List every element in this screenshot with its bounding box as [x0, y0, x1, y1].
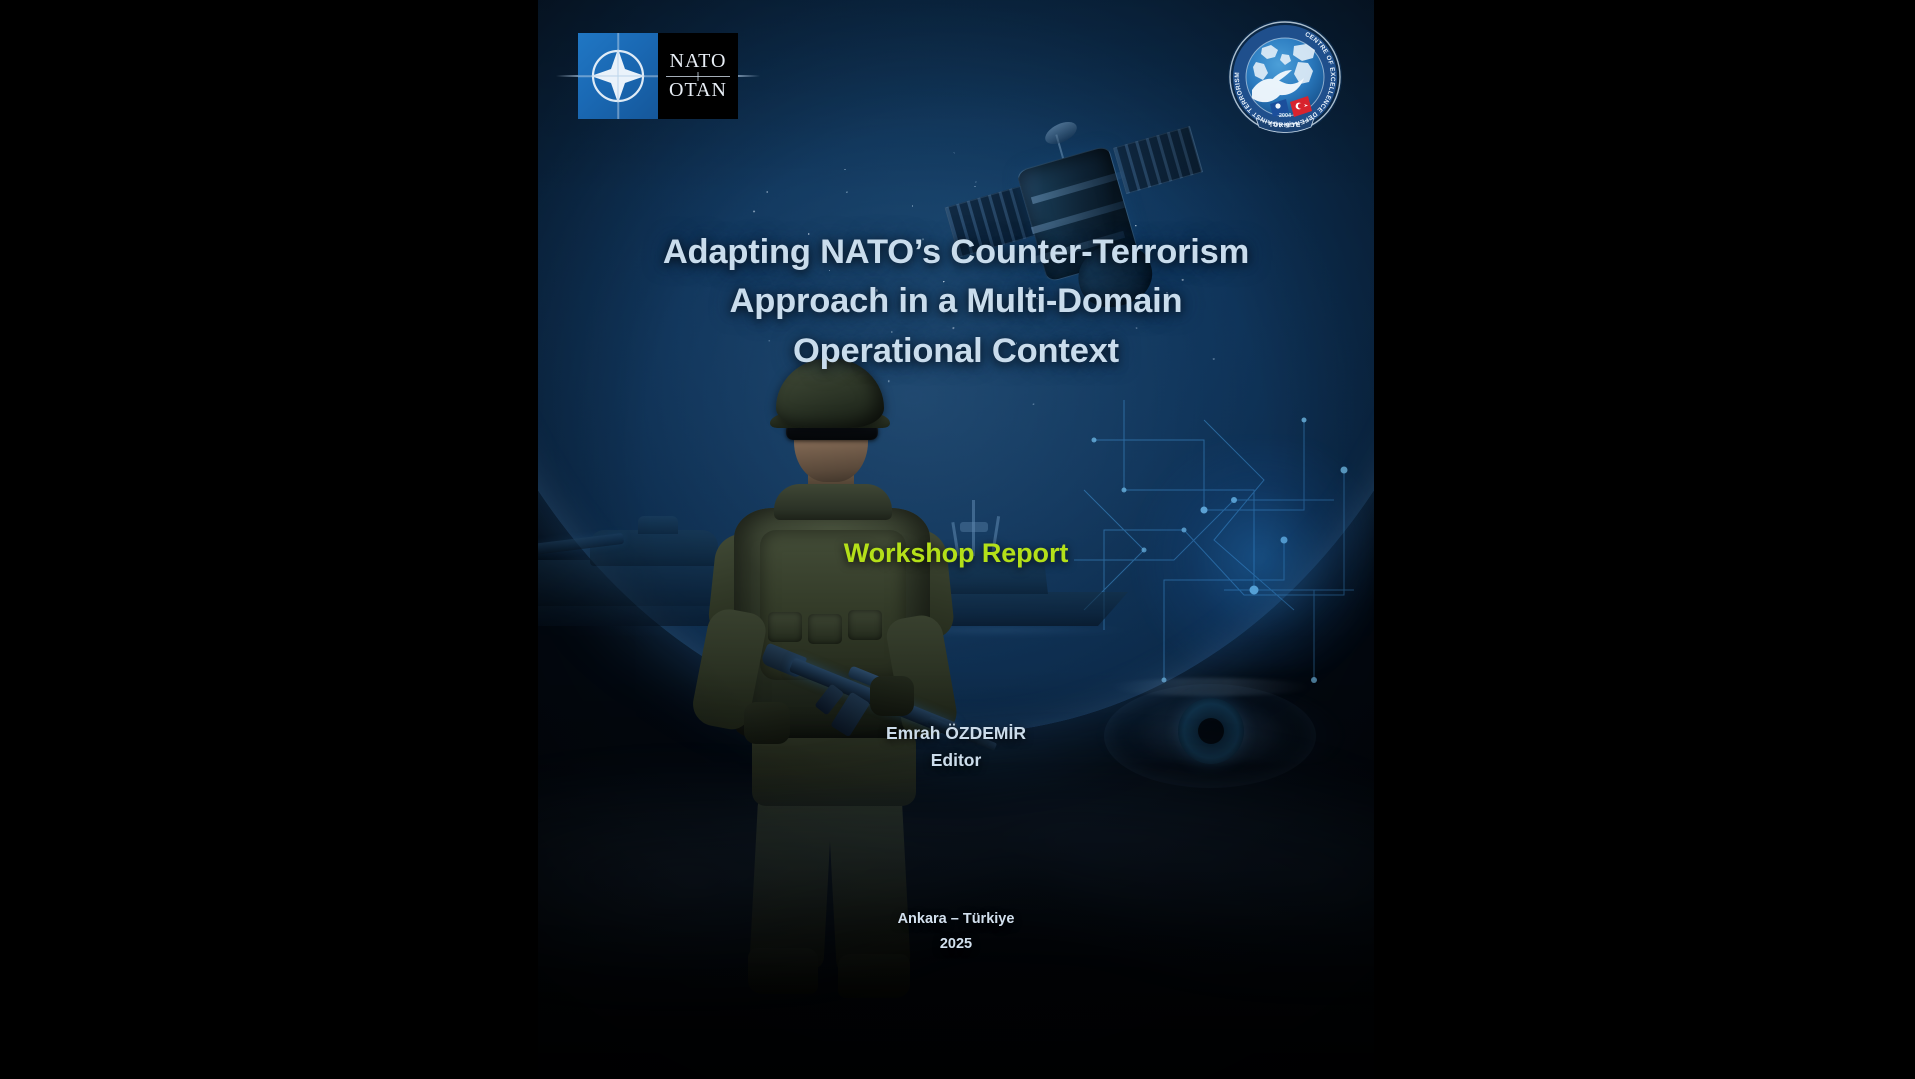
title-line-2: Approach in a Multi-Domain	[562, 277, 1350, 326]
page-title: Adapting NATO’s Counter-Terrorism Approa…	[538, 228, 1374, 376]
report-cover-page: NATO OTAN	[538, 0, 1374, 1079]
title-line-1: Adapting NATO’s Counter-Terrorism	[562, 228, 1350, 277]
publication-info: Ankara – Türkiye 2025	[538, 907, 1374, 957]
letterbox-bar-right	[1374, 0, 1915, 1079]
publication-year: 2025	[538, 932, 1374, 957]
editor-role: Editor	[538, 747, 1374, 774]
report-subtitle: Workshop Report	[538, 538, 1374, 569]
letterbox-bar-left	[0, 0, 538, 1079]
editor-name: Emrah ÖZDEMİR	[538, 720, 1374, 747]
title-line-3: Operational Context	[562, 327, 1350, 376]
publication-place: Ankara – Türkiye	[538, 907, 1374, 932]
screenshot-root: NATO OTAN	[0, 0, 1915, 1079]
editor-credit: Emrah ÖZDEMİR Editor	[538, 720, 1374, 775]
cover-text-block: Adapting NATO’s Counter-Terrorism Approa…	[538, 0, 1374, 1079]
